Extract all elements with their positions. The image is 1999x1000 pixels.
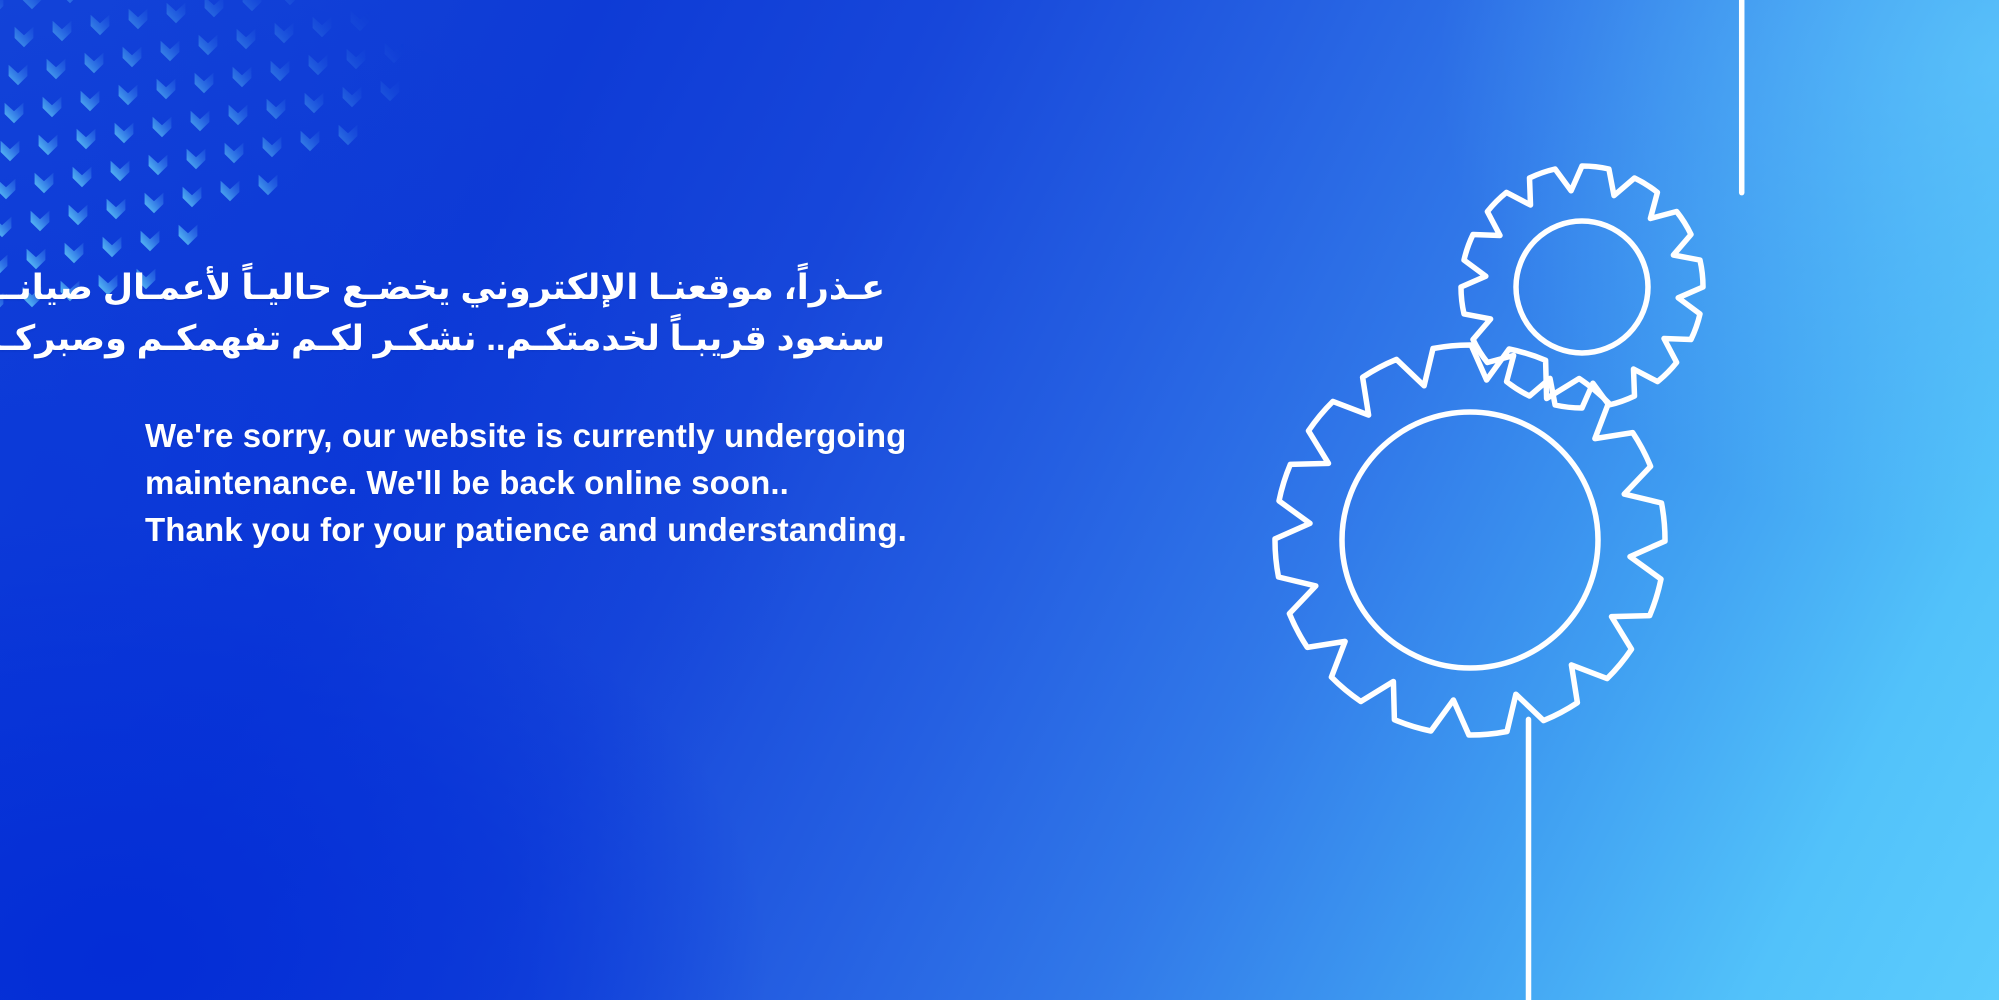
english-message: We're sorry, our website is currently un… xyxy=(145,413,1145,554)
maintenance-page: عـذراً، موقعنـا الإلكتروني يخضـع حاليـاً… xyxy=(0,0,1999,1000)
message-block: عـذراً، موقعنـا الإلكتروني يخضـع حاليـاً… xyxy=(145,262,1145,553)
arabic-line-1: عـذراً، موقعنـا الإلكتروني يخضـع حاليـاً… xyxy=(145,262,885,313)
english-line-1: We're sorry, our website is currently un… xyxy=(145,413,1145,460)
arabic-line-2: سنعود قريبـاً لخدمتكـم.. نشكـر لكـم تفهم… xyxy=(145,313,885,364)
english-line-2: maintenance. We'll be back online soon.. xyxy=(145,460,1145,507)
arabic-message: عـذراً، موقعنـا الإلكتروني يخضـع حاليـاً… xyxy=(145,262,885,365)
english-line-3: Thank you for your patience and understa… xyxy=(145,507,1145,554)
